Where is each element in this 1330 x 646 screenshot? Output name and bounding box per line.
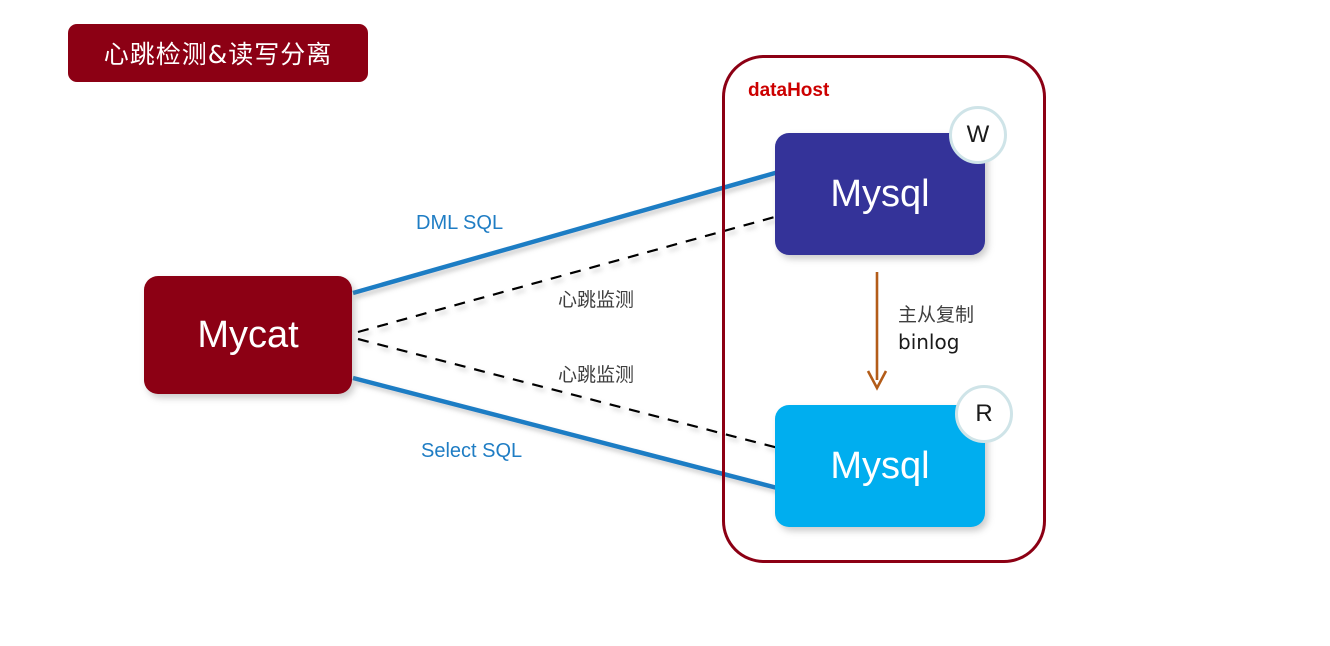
- edge-label-dml-sql: DML SQL: [416, 212, 503, 235]
- edge-label-heartbeat-write: 心跳监测: [558, 285, 634, 312]
- datahost-label: dataHost: [748, 80, 829, 102]
- edge-label-heartbeat-read: 心跳监测: [558, 360, 634, 387]
- node-mysql-read[interactable]: Mysql: [775, 405, 985, 527]
- edge-label-select-sql: Select SQL: [421, 440, 522, 463]
- edge-label-replication: 主从复制 binlog: [898, 303, 974, 356]
- w-badge-icon: W: [949, 106, 1007, 164]
- node-mysql-read-label: Mysql: [830, 447, 929, 485]
- title-banner: 心跳检测&读写分离: [68, 24, 368, 82]
- node-mysql-write-label: Mysql: [830, 175, 929, 213]
- replication-label-line1: 主从复制: [898, 303, 974, 329]
- replication-label-line2: binlog: [898, 329, 974, 356]
- node-mycat[interactable]: Mycat: [144, 276, 352, 394]
- r-badge-icon: R: [955, 385, 1013, 443]
- node-mycat-label: Mycat: [197, 316, 298, 354]
- title-banner-text: 心跳检测&读写分离: [104, 35, 333, 71]
- diagram-canvas: 心跳检测&读写分离 dataHost Mycat Mysql W Mysql R…: [0, 0, 1330, 646]
- w-badge-label: W: [967, 121, 990, 149]
- r-badge-label: R: [975, 400, 992, 428]
